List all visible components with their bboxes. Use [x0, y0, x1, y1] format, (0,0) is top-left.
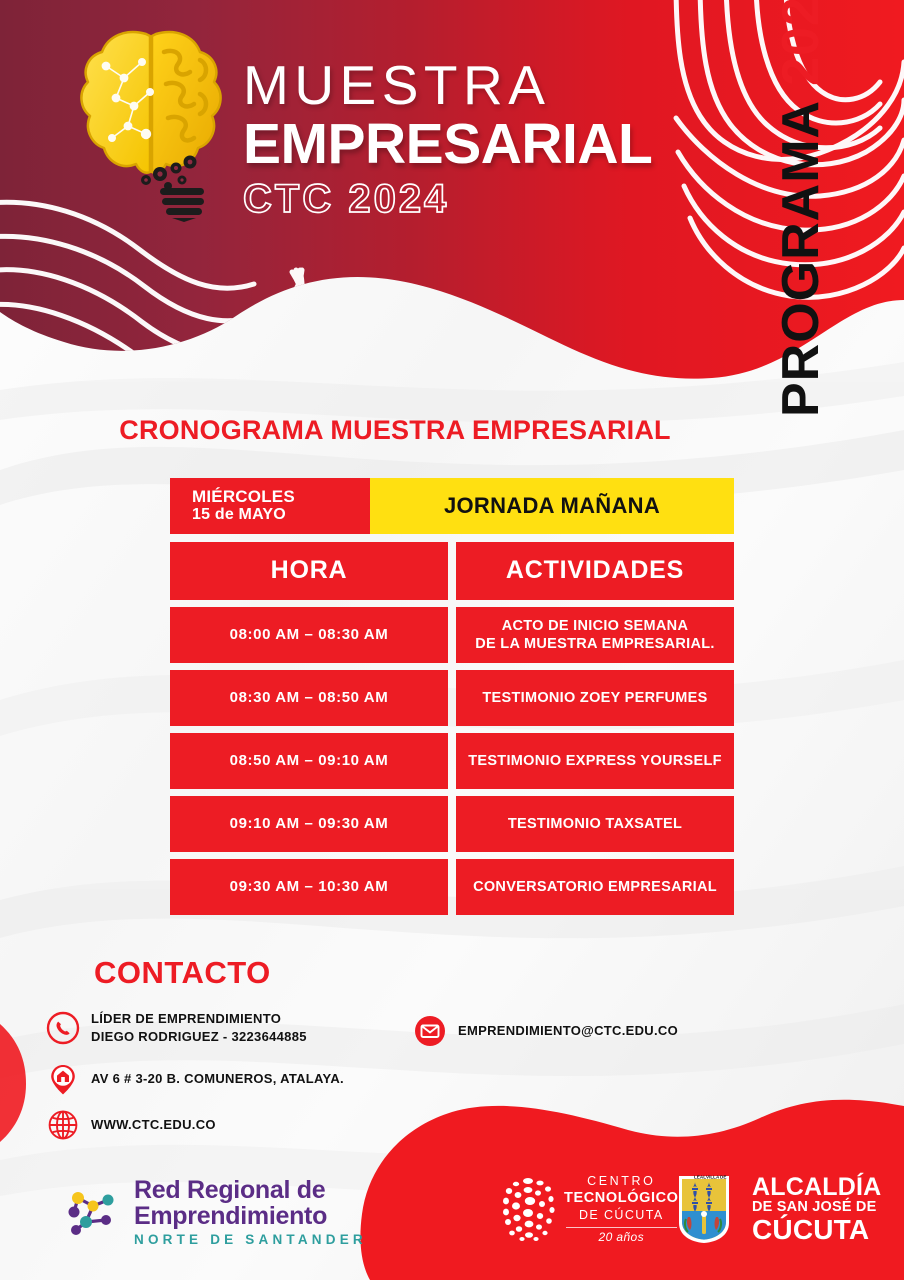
contact-phone-text: LÍDER DE EMPRENDIMIENTO DIEGO RODRIGUEZ … [91, 1010, 307, 1045]
alcaldia-line-3: CÚCUTA [752, 1216, 881, 1243]
table-row: 08:00 AM – 08:30 AM ACTO DE INICIO SEMAN… [170, 607, 734, 663]
cell-activity: CONVERSATORIO EMPRESARIAL [456, 859, 734, 915]
vertical-year: 2024 [771, 0, 831, 86]
cell-time: 08:30 AM – 08:50 AM [170, 670, 448, 726]
cell-activity: TESTIMONIO ZOEY PERFUMES [456, 670, 734, 726]
cell-time: 08:50 AM – 09:10 AM [170, 733, 448, 789]
ctc-line-3: DE CÚCUTA [564, 1207, 679, 1223]
schedule-day-cell: MIÉRCOLES 15 de MAYO [170, 478, 370, 534]
contact-email-row: EMPRENDIMIENTO@CTC.EDU.CO [413, 1014, 678, 1048]
vertical-word: PROGRAMA [771, 100, 831, 417]
location-pin-home-icon [46, 1062, 80, 1096]
cell-time: 09:30 AM – 10:30 AM [170, 859, 448, 915]
schedule-header-row: HORA ACTIVIDADES [170, 542, 734, 600]
alcaldia-text: ALCALDÍA DE SAN JOSÉ DE CÚCUTA [752, 1175, 881, 1243]
title-line-1: MUESTRA [243, 58, 713, 113]
svg-text:VILLA: VILLA [706, 1174, 720, 1179]
table-row: 08:50 AM – 09:10 AM TESTIMONIO EXPRESS Y… [170, 733, 734, 789]
activity-line-1: ACTO DE INICIO SEMANA [475, 617, 715, 635]
schedule-section-title: CRONOGRAMA MUESTRA EMPRESARIAL [0, 415, 790, 446]
column-header-actividades: ACTIVIDADES [456, 542, 734, 600]
ctc-line-2: TECNOLÓGICO [564, 1190, 679, 1207]
brain-lightbulb-icon [72, 22, 232, 222]
cell-time: 09:10 AM – 09:30 AM [170, 796, 448, 852]
phone-icon [46, 1011, 80, 1045]
column-header-hora: HORA [170, 542, 448, 600]
rre-line-3: NORTE DE SANTANDER [134, 1232, 367, 1247]
phone-value: DIEGO RODRIGUEZ - 3223644885 [91, 1028, 307, 1046]
alcaldia-line-1: ALCALDÍA [752, 1175, 881, 1200]
envelope-icon [413, 1014, 447, 1048]
title-line-3: CTC 2024 [243, 179, 713, 219]
day-date: 15 de MAYO [192, 506, 370, 524]
cell-activity: TESTIMONIO TAXSATEL [456, 796, 734, 852]
vertical-programa-label: PROGRAMA 2024 [741, 0, 861, 417]
contact-address-row: AV 6 # 3-20 B. COMUNEROS, ATALAYA. [46, 1062, 344, 1096]
contact-email-text: EMPRENDIMIENTO@CTC.EDU.CO [458, 1022, 678, 1040]
cell-time: 08:00 AM – 08:30 AM [170, 607, 448, 663]
schedule-table: MIÉRCOLES 15 de MAYO JORNADA MAÑANA HORA… [170, 478, 734, 922]
activity-line-2: DE LA MUESTRA EMPRESARIAL. [475, 635, 715, 653]
table-row: 09:10 AM – 09:30 AM TESTIMONIO TAXSATEL [170, 796, 734, 852]
svg-text:DE: DE [720, 1174, 726, 1179]
dotted-sphere-icon [498, 1173, 558, 1245]
phone-label: LÍDER DE EMPRENDIMIENTO [91, 1010, 307, 1028]
ctc-logo: CENTRO TECNOLÓGICO DE CÚCUTA 20 años [498, 1163, 668, 1255]
ctc-line-1: CENTRO [564, 1174, 679, 1190]
ctc-logo-text: CENTRO TECNOLÓGICO DE CÚCUTA 20 años [564, 1174, 679, 1243]
poster-canvas: MUESTRA EMPRESARIAL CTC 2024 CRONOGRAMA … [0, 0, 904, 1280]
cell-activity: TESTIMONIO EXPRESS YOURSELF [456, 733, 734, 789]
contact-heading: CONTACTO [94, 955, 271, 991]
red-regional-logo: Red Regional de Emprendimiento NORTE DE … [62, 1165, 382, 1260]
poster-title-block: MUESTRA EMPRESARIAL CTC 2024 [243, 58, 713, 219]
contact-phone-row: LÍDER DE EMPRENDIMIENTO DIEGO RODRIGUEZ … [46, 1010, 307, 1045]
rre-line-1: Red Regional de [134, 1178, 367, 1204]
contact-address-text: AV 6 # 3-20 B. COMUNEROS, ATALAYA. [91, 1070, 344, 1088]
ctc-divider [566, 1227, 677, 1228]
table-row: 09:30 AM – 10:30 AM CONVERSATORIO EMPRES… [170, 859, 734, 915]
schedule-jornada-cell: JORNADA MAÑANA [370, 478, 734, 534]
network-nodes-icon [62, 1182, 124, 1244]
cell-activity: ACTO DE INICIO SEMANA DE LA MUESTRA EMPR… [456, 607, 734, 663]
rre-line-2: Emprendimiento [134, 1204, 367, 1230]
day-name: MIÉRCOLES [192, 487, 370, 506]
globe-icon [46, 1108, 80, 1142]
contact-website-text: WWW.CTC.EDU.CO [91, 1116, 216, 1134]
title-line-2: EMPRESARIAL [243, 115, 713, 173]
coat-of-arms-icon: LEAL VILLA DE [676, 1173, 732, 1245]
alcaldia-logo: LEAL VILLA DE ALCALDÍA DE SAN JOSÉ DE CÚ… [676, 1160, 866, 1258]
svg-text:LEAL: LEAL [694, 1174, 706, 1179]
red-regional-text: Red Regional de Emprendimiento NORTE DE … [134, 1178, 367, 1247]
table-row: 08:30 AM – 08:50 AM TESTIMONIO ZOEY PERF… [170, 670, 734, 726]
ctc-line-4: 20 años [564, 1230, 679, 1244]
schedule-day-row: MIÉRCOLES 15 de MAYO JORNADA MAÑANA [170, 478, 734, 534]
contact-website-row: WWW.CTC.EDU.CO [46, 1108, 216, 1142]
